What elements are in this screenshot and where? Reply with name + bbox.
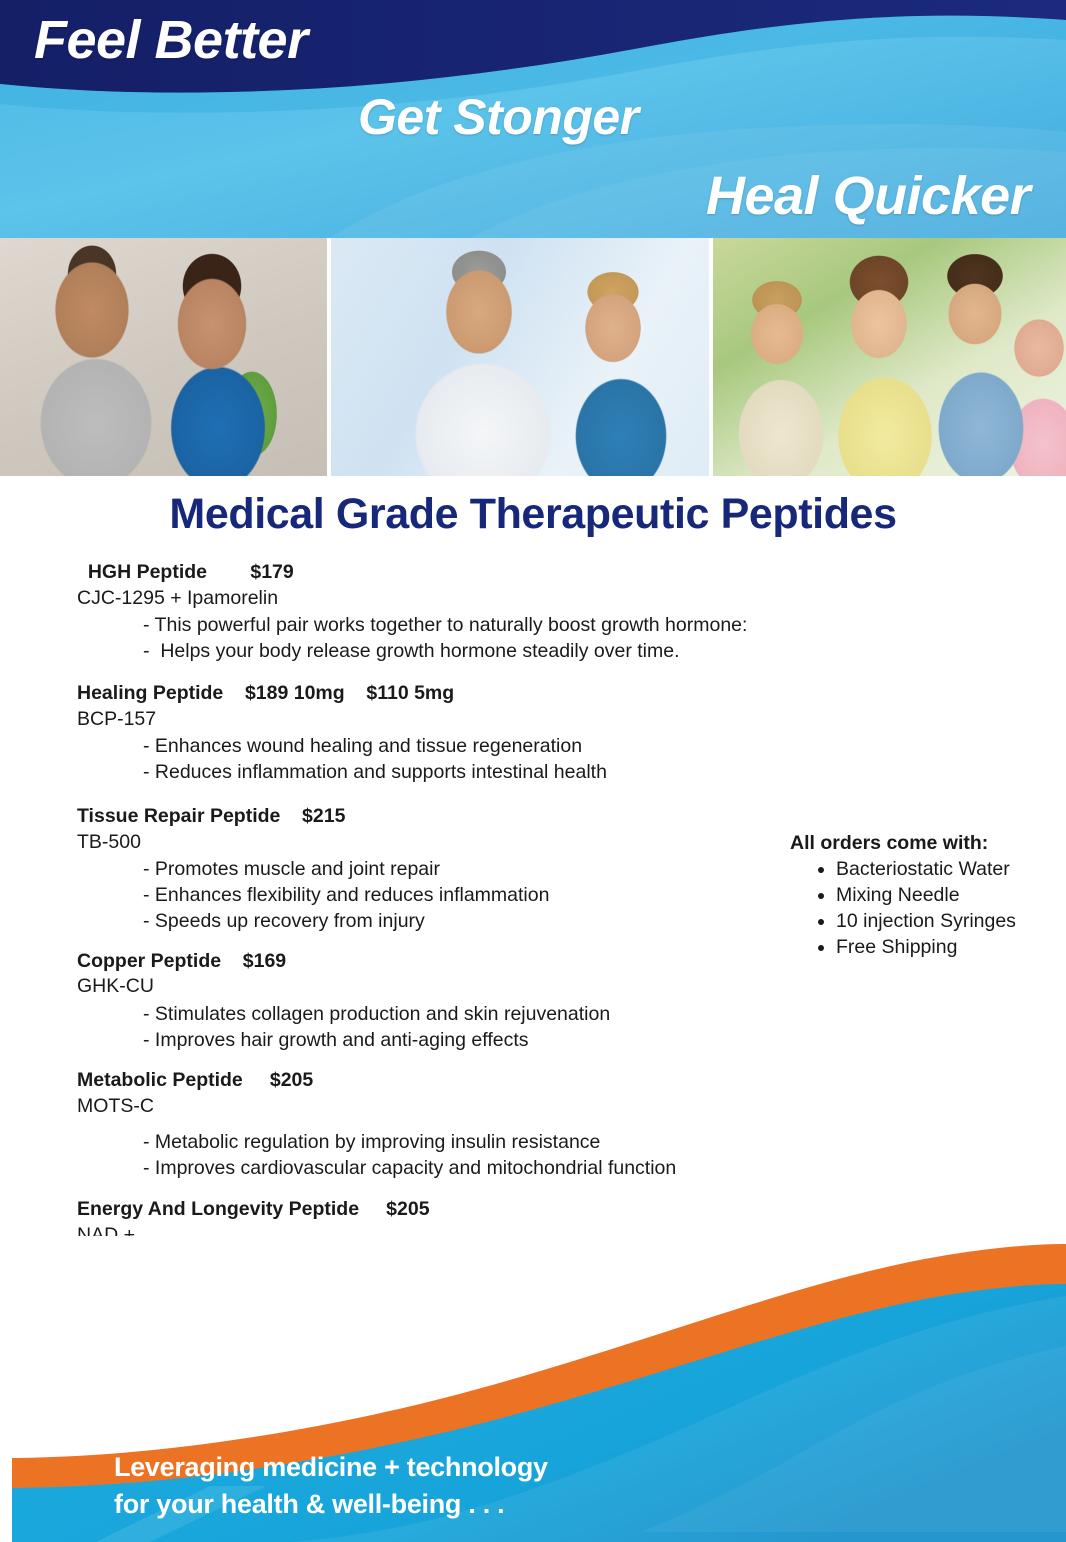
product-item: Metabolic Peptide $205 MOTS-C - Metaboli… bbox=[77, 1068, 777, 1181]
product-item: Tissue Repair Peptide $215 TB-500 - Prom… bbox=[77, 804, 777, 935]
product-benefit: - Metabolic regulation by improving insu… bbox=[77, 1130, 777, 1156]
product-heading: Copper Peptide $169 bbox=[77, 949, 777, 975]
product-benefit: - Stimulates collagen production and ski… bbox=[77, 1002, 777, 1028]
content-area: Medical Grade Therapeutic Peptides HGH P… bbox=[0, 476, 1066, 1296]
product-compound: CJC-1295 + Ipamorelin bbox=[77, 586, 777, 612]
product-benefit: - Enhances flexibility and reduces infla… bbox=[77, 883, 777, 909]
footer-tagline-line-1: Leveraging medicine + technology bbox=[114, 1452, 548, 1482]
header-tagline-1: Feel Better bbox=[34, 9, 308, 71]
photo-band bbox=[0, 238, 1066, 476]
product-benefit: - Speeds up recovery from injury bbox=[77, 909, 777, 935]
product-benefit: - Helps your body release growth hormone… bbox=[77, 639, 777, 665]
product-heading: Metabolic Peptide $205 bbox=[77, 1068, 777, 1094]
footer-tagline: Leveraging medicine + technologyfor your… bbox=[114, 1449, 548, 1524]
orders-box-title: All orders come with: bbox=[790, 832, 1060, 855]
page-title: Medical Grade Therapeutic Peptides bbox=[0, 490, 1066, 539]
footer-left-white-strip bbox=[0, 1406, 12, 1542]
list-item: Bacteriostatic Water bbox=[836, 856, 1060, 882]
fitness-couple-photo bbox=[0, 238, 327, 476]
header-tagline-2: Get Stonger bbox=[358, 88, 639, 146]
product-compound: GHK-CU bbox=[77, 974, 777, 1000]
header-tagline-3: Heal Quicker bbox=[706, 165, 1030, 227]
product-benefits: - Metabolic regulation by improving insu… bbox=[77, 1130, 777, 1181]
footer-banner: Leveraging medicine + technologyfor your… bbox=[0, 1236, 1066, 1542]
product-benefits: - This powerful pair works together to n… bbox=[77, 613, 777, 664]
product-benefit: - Promotes muscle and joint repair bbox=[77, 857, 777, 883]
orders-included-list: Bacteriostatic Water Mixing Needle 10 in… bbox=[790, 856, 1060, 961]
product-heading: Energy And Longevity Peptide $205 bbox=[77, 1197, 777, 1223]
product-benefit: - Improves hair growth and anti-aging ef… bbox=[77, 1028, 777, 1054]
footer-tagline-line-2: for your health & well-being . . . bbox=[114, 1489, 504, 1519]
header-banner: Feel Better Get Stonger Heal Quicker bbox=[0, 0, 1066, 238]
product-heading: HGH Peptide $179 bbox=[77, 560, 777, 586]
product-item: Copper Peptide $169 GHK-CU - Stimulates … bbox=[77, 949, 777, 1054]
list-item: 10 injection Syringes bbox=[836, 908, 1060, 934]
product-benefit: - Reduces inflammation and supports inte… bbox=[77, 760, 777, 786]
product-compound: BCP-157 bbox=[77, 707, 777, 733]
family-outdoors-photo bbox=[713, 238, 1066, 476]
product-heading: Tissue Repair Peptide $215 bbox=[77, 804, 777, 830]
product-list: HGH Peptide $179 CJC-1295 + Ipamorelin -… bbox=[77, 560, 777, 1311]
list-item: Free Shipping bbox=[836, 934, 1060, 960]
product-compound: TB-500 bbox=[77, 830, 777, 856]
product-benefit: - Enhances wound healing and tissue rege… bbox=[77, 734, 777, 760]
product-benefits: - Promotes muscle and joint repair - Enh… bbox=[77, 857, 777, 934]
doctor-and-nurse-photo bbox=[331, 238, 709, 476]
product-benefits: - Enhances wound healing and tissue rege… bbox=[77, 734, 777, 785]
product-heading: Healing Peptide $189 10mg $110 5mg bbox=[77, 681, 777, 707]
product-item: Healing Peptide $189 10mg $110 5mg BCP-1… bbox=[77, 681, 777, 786]
product-compound: MOTS-C bbox=[77, 1094, 777, 1120]
product-item: HGH Peptide $179 CJC-1295 + Ipamorelin -… bbox=[77, 560, 777, 665]
product-benefit: - This powerful pair works together to n… bbox=[77, 613, 777, 639]
flyer-page: Feel Better Get Stonger Heal Quicker Med… bbox=[0, 0, 1066, 1542]
product-benefits: - Stimulates collagen production and ski… bbox=[77, 1002, 777, 1053]
product-benefit: - Improves cardiovascular capacity and m… bbox=[77, 1156, 777, 1182]
list-item: Mixing Needle bbox=[836, 882, 1060, 908]
all-orders-include-box: All orders come with: Bacteriostatic Wat… bbox=[790, 832, 1060, 961]
